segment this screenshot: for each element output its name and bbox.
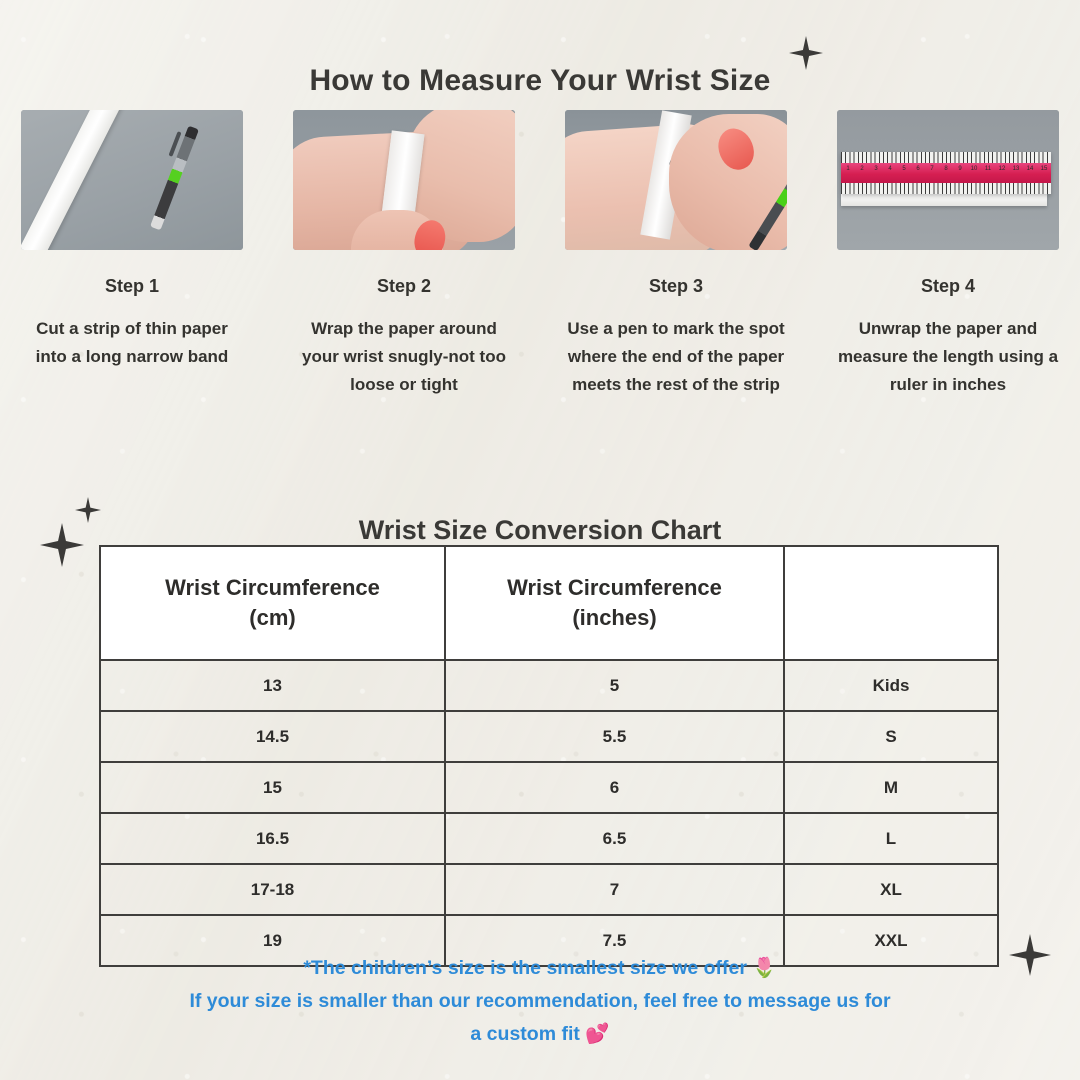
ruler-number: 15 <box>1037 166 1051 172</box>
step-item-1: Step 1 Cut a strip of thin paper into a … <box>21 110 243 399</box>
step-3-label: Step 3 <box>565 276 787 297</box>
ruler-number: 6 <box>911 166 925 172</box>
step-item-2: Step 2 Wrap the paper around your wrist … <box>293 110 515 399</box>
cell-cm: 17-18 <box>100 864 445 915</box>
table-header-row: Wrist Circumference (cm) Wrist Circumfer… <box>100 546 998 660</box>
table-row: 156M <box>100 762 998 813</box>
step-2-photo <box>293 110 515 250</box>
footer-note-line-2: If your size is smaller than our recomme… <box>60 985 1020 1018</box>
column-header-inches-line1: Wrist Circumference <box>507 575 722 600</box>
ruler-ticks-top <box>841 152 1051 163</box>
cell-inches: 5.5 <box>445 711 784 762</box>
ruler-number: 9 <box>953 166 967 172</box>
ruler-number: 13 <box>1009 166 1023 172</box>
ruler-number: 7 <box>925 166 939 172</box>
step-item-3: Step 3 Use a pen to mark the spot where … <box>565 110 787 399</box>
ruler-number: 12 <box>995 166 1009 172</box>
chart-title: Wrist Size Conversion Chart <box>0 515 1080 546</box>
step-2-description: Wrap the paper around your wrist snugly-… <box>293 315 515 399</box>
step-1-description: Cut a strip of thin paper into a long na… <box>21 315 243 371</box>
cell-size: S <box>784 711 998 762</box>
step-1-label: Step 1 <box>21 276 243 297</box>
column-header-inches: Wrist Circumference (inches) <box>445 546 784 660</box>
footer-note-line-1: *The children’s size is the smallest siz… <box>60 952 1020 985</box>
step-4-label: Step 4 <box>837 276 1059 297</box>
footer-note: *The children’s size is the smallest siz… <box>60 952 1020 1050</box>
cell-cm: 14.5 <box>100 711 445 762</box>
step-3-description: Use a pen to mark the spot where the end… <box>565 315 787 399</box>
column-header-inches-line2: (inches) <box>572 605 656 630</box>
step-item-4: 123456789101112131415 Step 4 Unwrap the … <box>837 110 1059 399</box>
cell-size: XL <box>784 864 998 915</box>
ruler-number: 3 <box>869 166 883 172</box>
table-row: 16.56.5L <box>100 813 998 864</box>
step-3-photo <box>565 110 787 250</box>
cell-cm: 13 <box>100 660 445 711</box>
ruler-number: 4 <box>883 166 897 172</box>
column-header-cm: Wrist Circumference (cm) <box>100 546 445 660</box>
footer-note-line-3: a custom fit 💕 <box>60 1018 1020 1051</box>
ruler-number: 1 <box>841 166 855 172</box>
cell-inches: 6.5 <box>445 813 784 864</box>
ruler-number: 5 <box>897 166 911 172</box>
cell-inches: 7 <box>445 864 784 915</box>
column-header-cm-line1: Wrist Circumference <box>165 575 380 600</box>
step-4-photo: 123456789101112131415 <box>837 110 1059 250</box>
step-4-description: Unwrap the paper and measure the length … <box>837 315 1059 399</box>
cell-size: L <box>784 813 998 864</box>
table-header: Wrist Circumference (cm) Wrist Circumfer… <box>100 546 998 660</box>
paper-strip-shape <box>841 194 1047 206</box>
cell-inches: 5 <box>445 660 784 711</box>
ruler-number-scale: 123456789101112131415 <box>841 164 1051 174</box>
cell-cm: 16.5 <box>100 813 445 864</box>
column-header-size <box>784 546 998 660</box>
ruler-ticks-bottom <box>841 183 1051 194</box>
step-1-photo <box>21 110 243 250</box>
step-2-label: Step 2 <box>293 276 515 297</box>
ruler-number: 8 <box>939 166 953 172</box>
ruler-number: 14 <box>1023 166 1037 172</box>
table-row: 14.55.5S <box>100 711 998 762</box>
steps-row: Step 1 Cut a strip of thin paper into a … <box>0 110 1080 399</box>
cell-size: Kids <box>784 660 998 711</box>
wrist-size-conversion-table: Wrist Circumference (cm) Wrist Circumfer… <box>99 545 999 967</box>
infographic-page: How to Measure Your Wrist Size Step 1 Cu… <box>0 0 1080 1080</box>
column-header-cm-line2: (cm) <box>249 605 295 630</box>
cell-size: M <box>784 762 998 813</box>
cell-cm: 15 <box>100 762 445 813</box>
page-title: How to Measure Your Wrist Size <box>0 64 1080 98</box>
table-row: 17-187XL <box>100 864 998 915</box>
ruler-number: 10 <box>967 166 981 172</box>
ruler-number: 2 <box>855 166 869 172</box>
ruler-number: 11 <box>981 166 995 172</box>
table-row: 135Kids <box>100 660 998 711</box>
cell-inches: 6 <box>445 762 784 813</box>
table-body: 135Kids14.55.5S156M16.56.5L17-187XL197.5… <box>100 660 998 966</box>
ruler-shape: 123456789101112131415 <box>841 152 1051 194</box>
